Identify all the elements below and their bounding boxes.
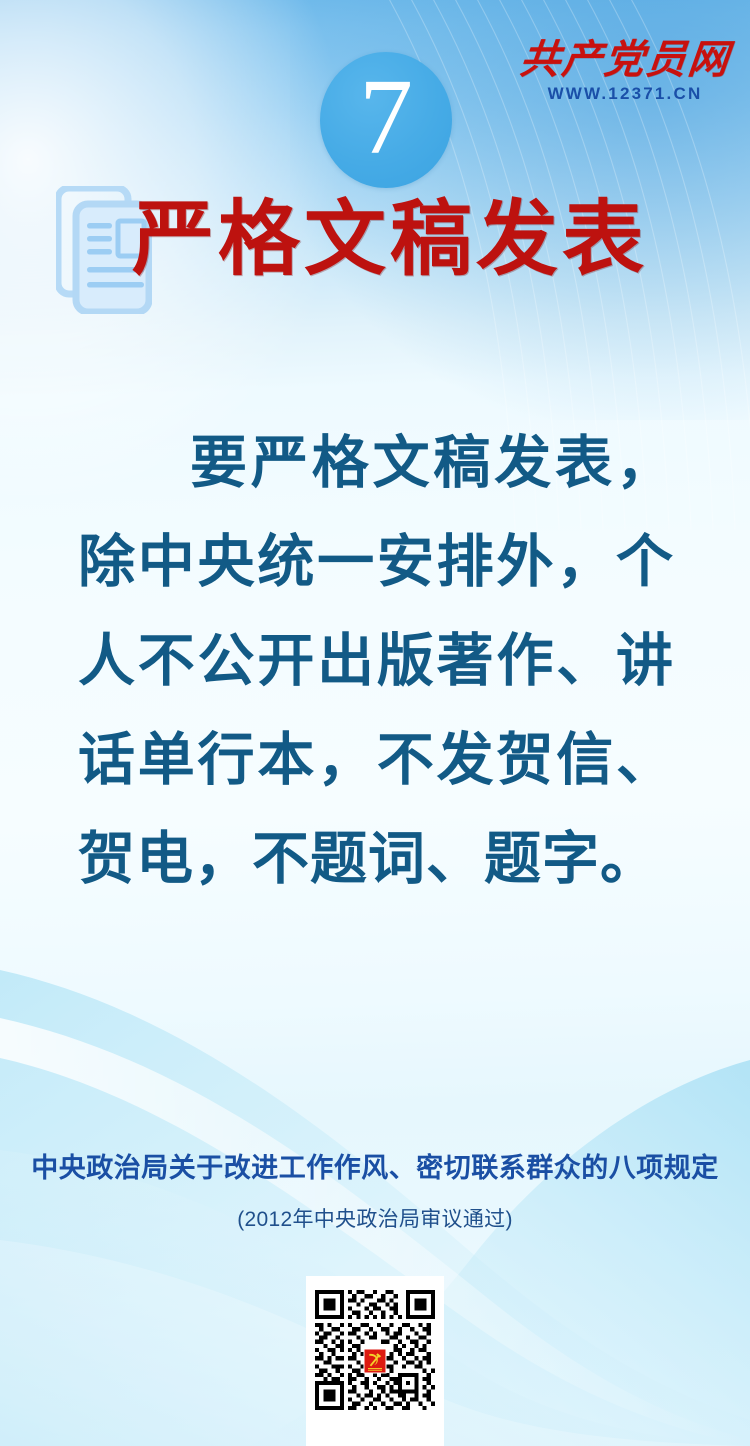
poster-root: 共产党员网 WWW.12371.CN 7 严格文稿发表 要严格文稿发表，除中央统…: [0, 0, 750, 1446]
party-emblem-hammer-sickle-icon: [364, 1349, 387, 1374]
page-title: 严格文稿发表: [132, 197, 692, 283]
party-emblem-glyph: [365, 1350, 386, 1373]
qr-code[interactable]: [306, 1276, 444, 1446]
footer-regulation-title: 中央政治局关于改进工作作风、密切联系群众的八项规定: [0, 1152, 750, 1184]
item-number-value: 7: [320, 64, 452, 172]
site-logo-url-text: WWW.12371.CN: [518, 85, 732, 102]
footer-regulation-subtitle: (2012年中央政治局审议通过): [0, 1207, 750, 1232]
body-paragraph: 要严格文稿发表，除中央统一安排外，个人不公开出版著作、讲话单行本，不发贺信、贺电…: [78, 414, 674, 909]
item-number-badge: 7: [320, 52, 452, 188]
site-logo[interactable]: 共产党员网 WWW.12371.CN: [518, 40, 732, 102]
site-logo-brand-text: 共产党员网: [516, 40, 734, 80]
